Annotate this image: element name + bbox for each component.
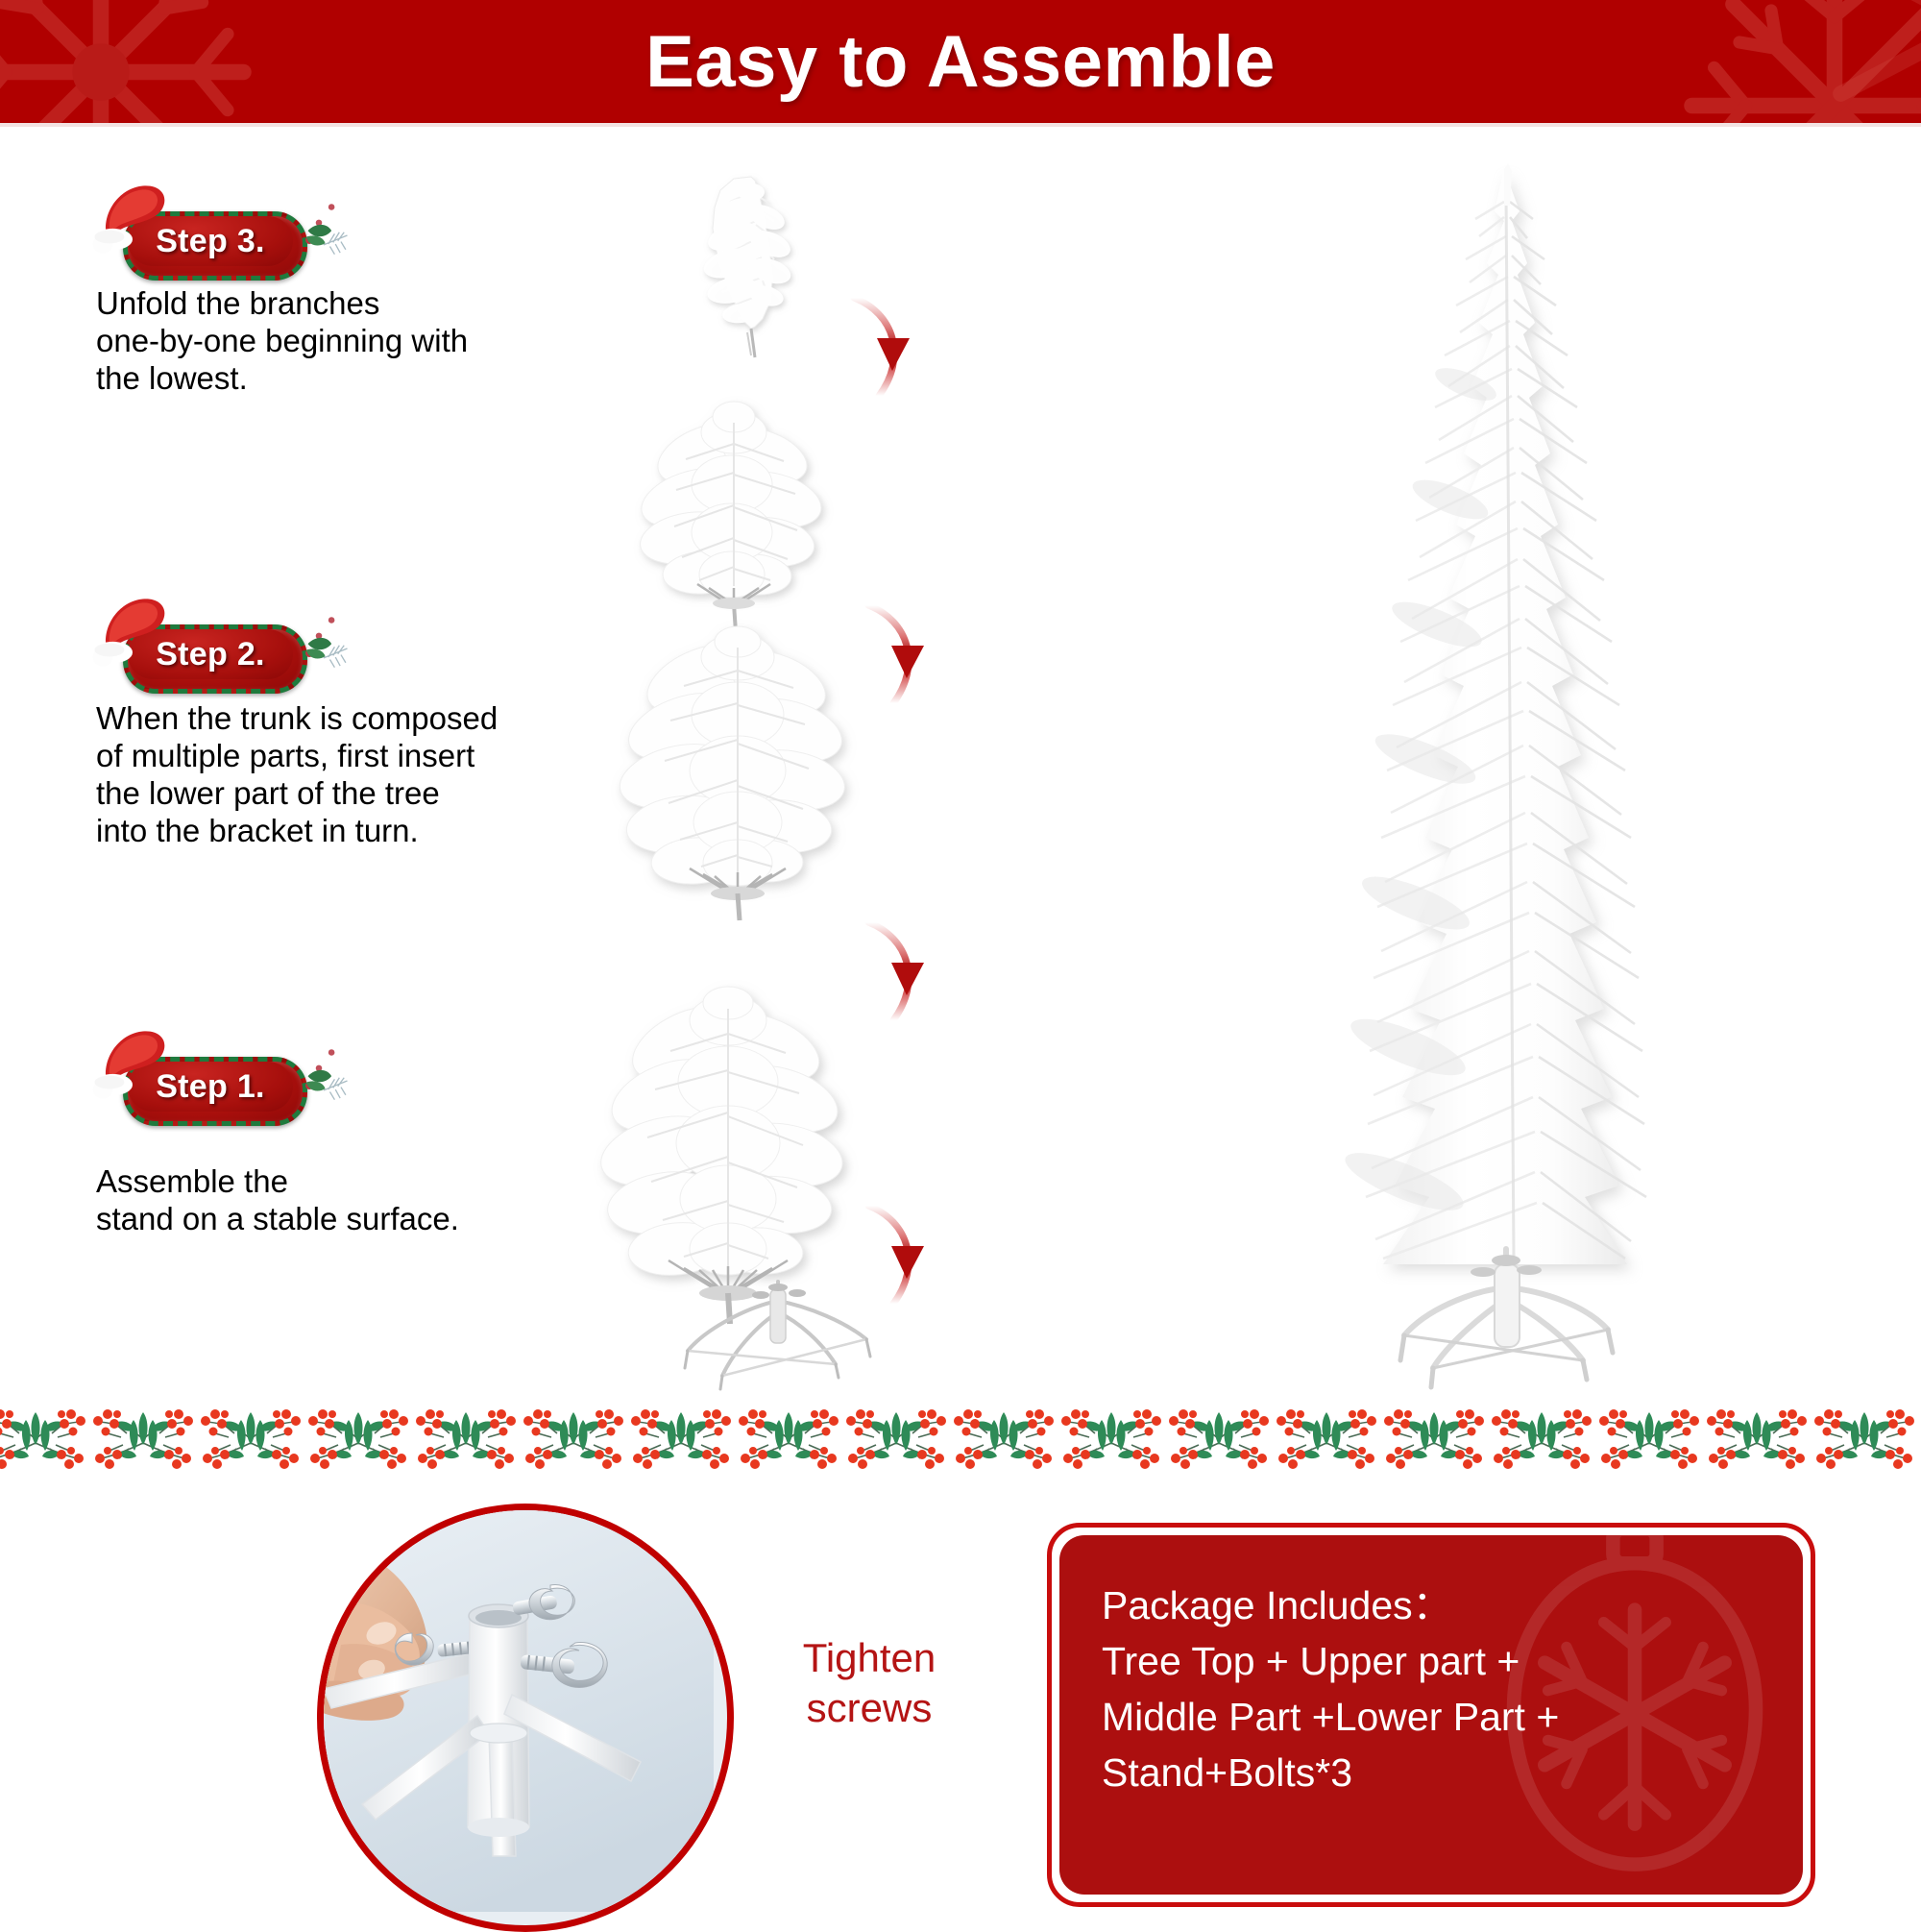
tree-stand-large — [1364, 1239, 1652, 1393]
holly-sprig-icon — [275, 1041, 363, 1120]
holly-garland-divider — [0, 1395, 1921, 1478]
page-header: Easy to Assemble — [0, 0, 1921, 123]
step-1-badge: Step 1. — [96, 1047, 303, 1118]
santa-hat-icon — [88, 1020, 177, 1103]
package-includes-box: Package Includes： Tree Top + Upper part … — [1047, 1523, 1815, 1907]
finished-christmas-tree — [1239, 163, 1777, 1364]
holly-sprig-icon — [275, 196, 363, 275]
flow-arrow-icon-2 — [845, 596, 960, 711]
assembly-instruction-page: Easy to Assemble Step 3. — [0, 0, 1921, 1921]
package-includes-text: Package Includes： Tree Top + Upper part … — [1102, 1577, 1774, 1800]
upper-branch-section — [615, 384, 864, 634]
tree-top-branch — [663, 173, 836, 375]
header-underline — [0, 123, 1921, 127]
step-1-text: Assemble the stand on a stable surface. — [96, 1162, 596, 1237]
flow-arrow-icon-1 — [831, 288, 946, 404]
stand-bolt-photo-illustration — [324, 1510, 714, 1912]
step-2-block: Step 2. Whe — [96, 615, 303, 686]
step-3-text: Unfold the branches one-by-one beginning… — [96, 284, 557, 397]
santa-hat-icon — [88, 588, 177, 671]
page-title: Easy to Assemble — [0, 0, 1921, 123]
package-includes-inner: Package Includes： Tree Top + Upper part … — [1059, 1535, 1803, 1895]
tighten-screws-photo — [317, 1504, 734, 1932]
flow-arrow-icon-3 — [845, 913, 960, 1028]
santa-hat-icon — [88, 175, 177, 257]
middle-branch-section — [596, 615, 884, 922]
step-2-badge: Step 2. — [96, 615, 303, 686]
step-1-block: Step 1. Ass — [96, 1047, 303, 1118]
flow-arrow-icon-4 — [845, 1196, 960, 1311]
holly-sprig-icon — [275, 609, 363, 688]
step-3-block: Step 3. Unf — [96, 202, 303, 273]
step-3-badge: Step 3. — [96, 202, 303, 273]
step-2-text: When the trunk is composed of multiple p… — [96, 699, 576, 849]
tighten-screws-label: Tighten screws — [759, 1633, 980, 1733]
